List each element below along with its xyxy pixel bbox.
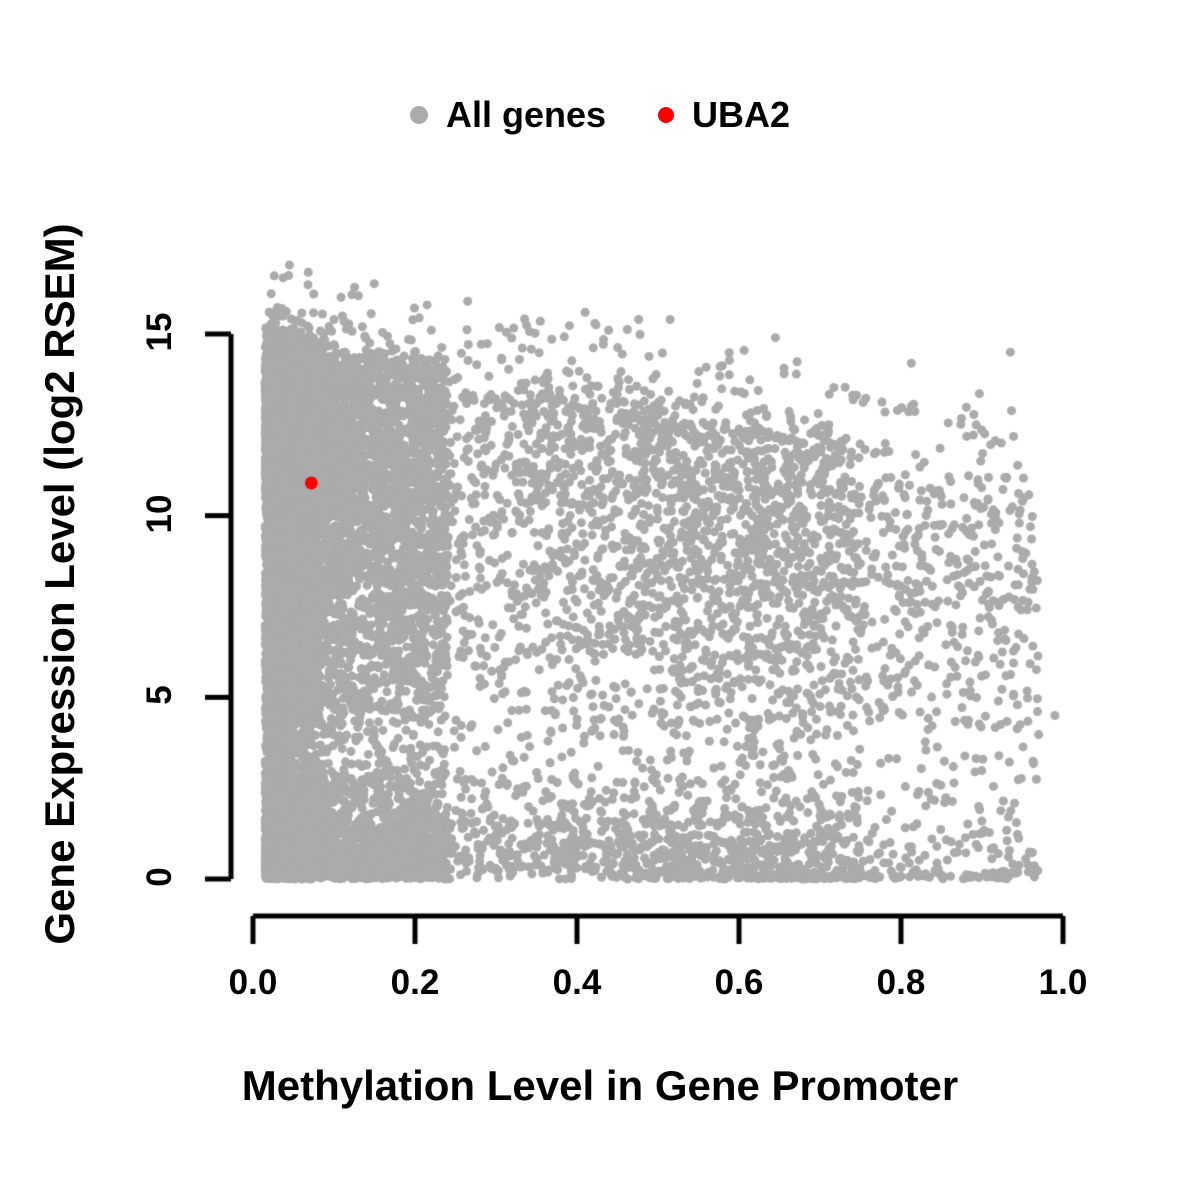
x-axis-title: Methylation Level in Gene Promoter	[0, 1062, 1200, 1110]
legend-entry-uba2: UBA2	[658, 94, 790, 136]
x-tick-label: 0.2	[360, 963, 470, 1003]
x-tick-label: 1.0	[1008, 963, 1118, 1003]
scatter-plot-figure: All genes UBA2 051015 0.00.20.40.60.81.0…	[0, 0, 1200, 1200]
legend-label-uba2: UBA2	[692, 94, 790, 136]
x-tick-label: 0.6	[684, 963, 794, 1003]
scatter-plot-canvas	[0, 0, 1200, 1200]
y-tick-label: 0	[140, 847, 180, 907]
y-tick-label: 10	[140, 484, 180, 544]
chart-legend: All genes UBA2	[0, 80, 1200, 150]
x-tick-label: 0.8	[846, 963, 956, 1003]
y-axis-title: Gene Expression Level (log2 RSEM)	[36, 184, 84, 984]
y-tick-label: 15	[140, 302, 180, 362]
legend-entry-all-genes: All genes	[410, 94, 606, 136]
legend-marker-red-dot-icon	[658, 107, 674, 123]
x-tick-label: 0.4	[522, 963, 632, 1003]
legend-label-all-genes: All genes	[446, 94, 606, 136]
y-tick-label: 5	[140, 665, 180, 725]
x-tick-label: 0.0	[198, 963, 308, 1003]
legend-marker-gray-dot-icon	[410, 106, 428, 124]
